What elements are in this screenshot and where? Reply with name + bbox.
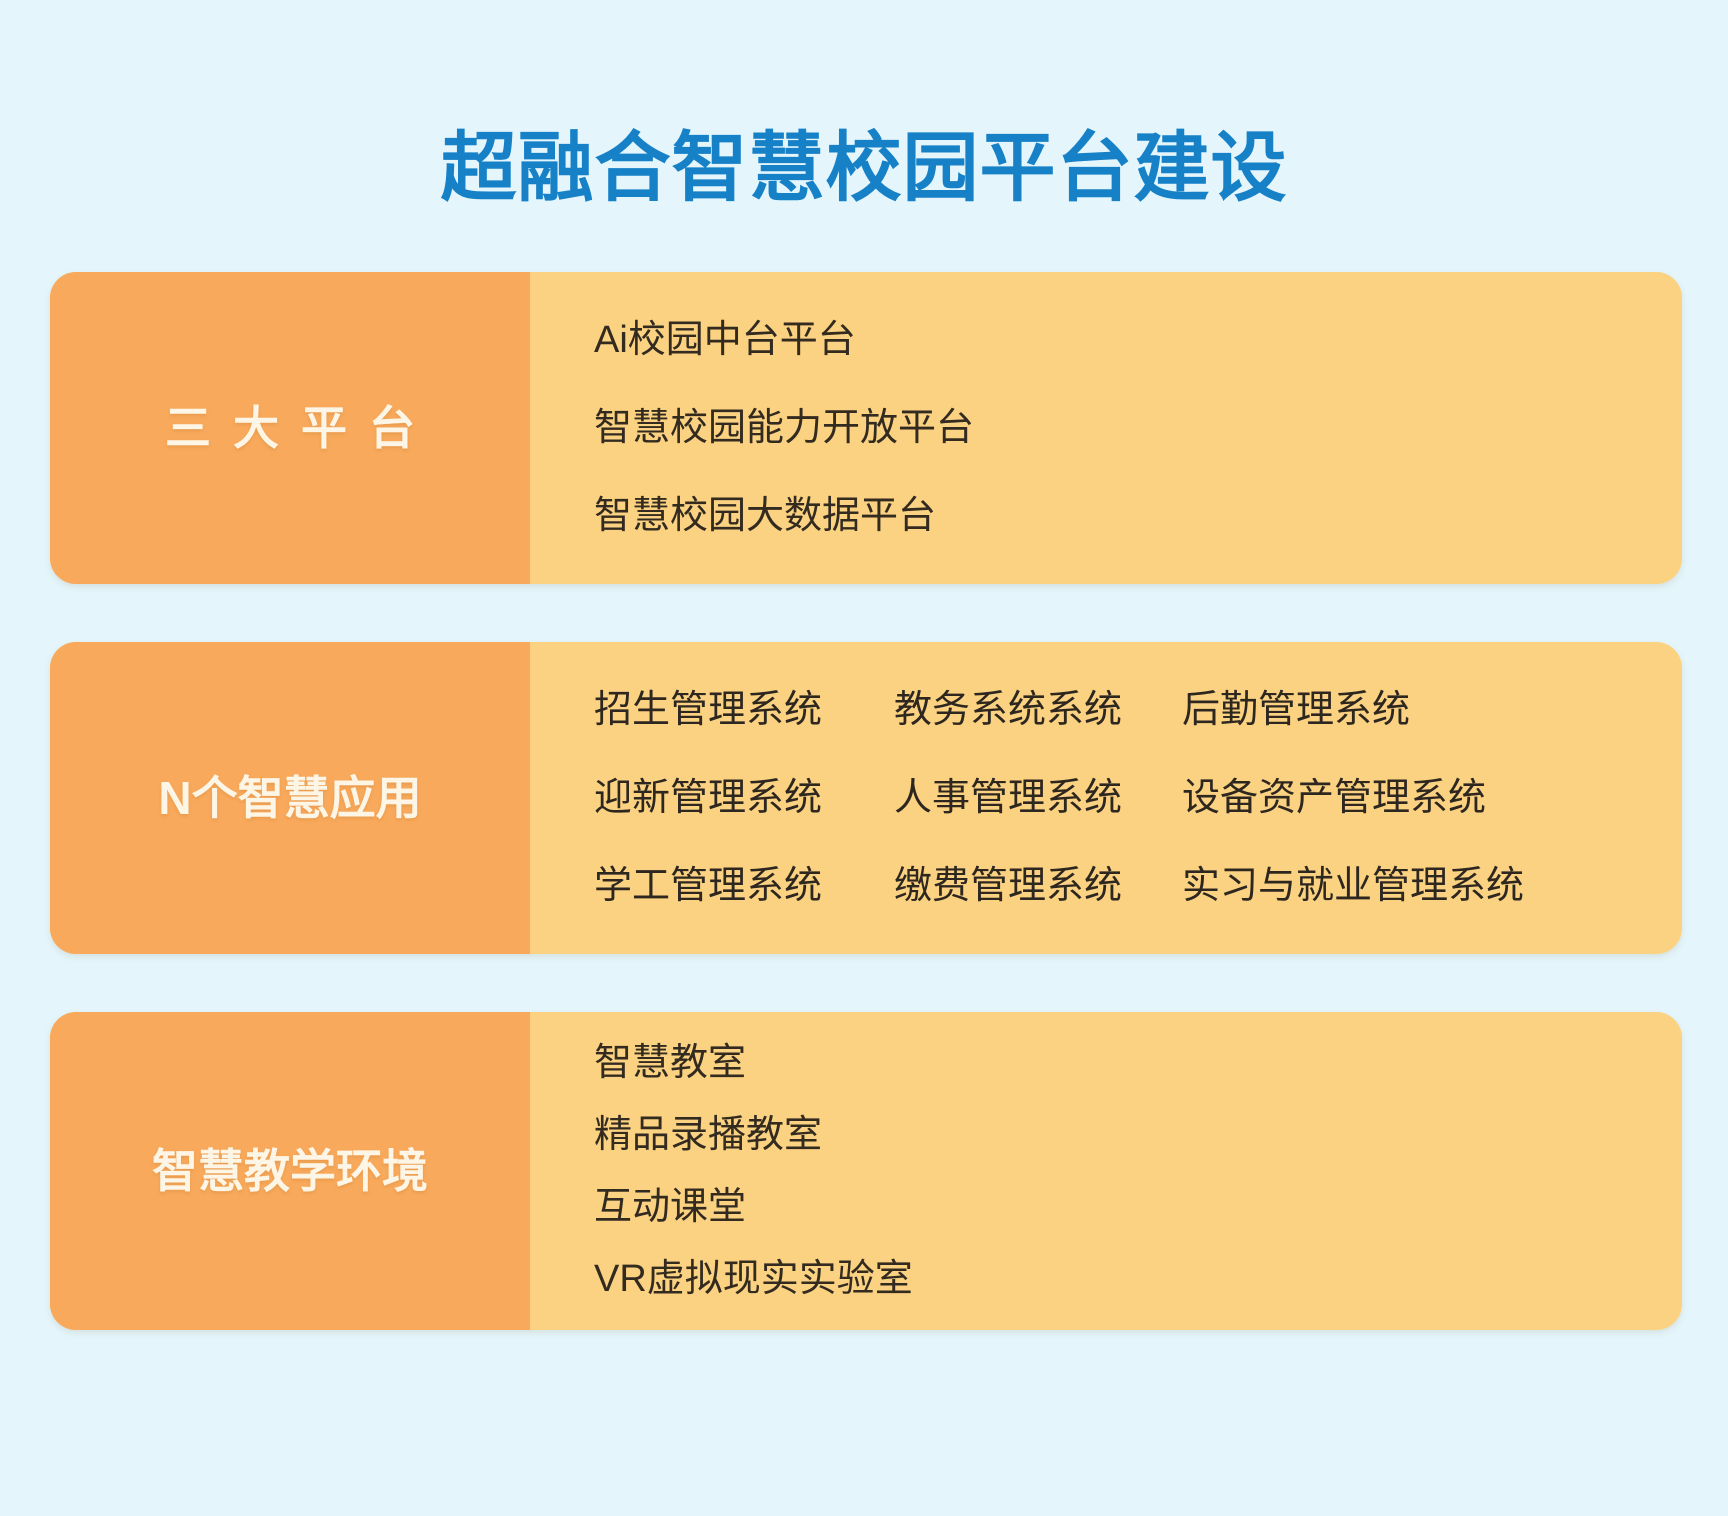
section-card-applications: N个智慧应用 招生管理系统 教务系统系统 后勤管理系统 迎新管理系统 人事管理系… <box>50 642 1682 954</box>
section-label-teaching-environment: 智慧教学环境 <box>50 1012 530 1330</box>
list-item: 互动课堂 <box>594 1184 1682 1230</box>
list-item: 智慧教室 <box>594 1040 1682 1086</box>
poster-root: 超融合智慧校园平台建设 三大平台 Ai校园中台平台 智慧校园能力开放平台 智慧校… <box>0 0 1728 1516</box>
section-card-platforms: 三大平台 Ai校园中台平台 智慧校园能力开放平台 智慧校园大数据平台 <box>50 272 1682 584</box>
section-label-text: 三大平台 <box>143 399 437 457</box>
section-body-teaching-environment: 智慧教室 精品录播教室 互动课堂 VR虚拟现实实验室 <box>530 1012 1682 1330</box>
list-item: 人事管理系统 <box>894 775 1182 821</box>
list-item: 学工管理系统 <box>594 863 894 909</box>
page-title-wrap: 超融合智慧校园平台建设 <box>0 72 1728 266</box>
page-title: 超融合智慧校园平台建设 <box>441 123 1288 215</box>
list-item: 教务系统系统 <box>894 687 1182 733</box>
section-label-text: N个智慧应用 <box>158 769 421 827</box>
list-item: 智慧校园能力开放平台 <box>594 406 1682 450</box>
section-label-applications: N个智慧应用 <box>50 642 530 954</box>
list-item: 精品录播教室 <box>594 1112 1682 1158</box>
application-row: 迎新管理系统 人事管理系统 设备资产管理系统 <box>594 775 1682 821</box>
list-item: Ai校园中台平台 <box>594 318 1682 362</box>
list-item: 后勤管理系统 <box>1182 687 1410 733</box>
section-label-platforms: 三大平台 <box>50 272 530 584</box>
list-item: 实习与就业管理系统 <box>1182 863 1524 909</box>
list-item: 设备资产管理系统 <box>1182 775 1486 821</box>
list-item: 智慧校园大数据平台 <box>594 494 1682 538</box>
section-label-text: 智慧教学环境 <box>152 1142 428 1200</box>
section-body-platforms: Ai校园中台平台 智慧校园能力开放平台 智慧校园大数据平台 <box>530 272 1682 584</box>
section-card-teaching-environment: 智慧教学环境 智慧教室 精品录播教室 互动课堂 VR虚拟现实实验室 <box>50 1012 1682 1330</box>
list-item: VR虚拟现实实验室 <box>594 1256 1682 1302</box>
section-body-applications: 招生管理系统 教务系统系统 后勤管理系统 迎新管理系统 人事管理系统 设备资产管… <box>530 642 1682 954</box>
list-item: 招生管理系统 <box>594 687 894 733</box>
list-item: 缴费管理系统 <box>894 863 1182 909</box>
application-row: 学工管理系统 缴费管理系统 实习与就业管理系统 <box>594 863 1682 909</box>
application-row: 招生管理系统 教务系统系统 后勤管理系统 <box>594 687 1682 733</box>
section-card-list: 三大平台 Ai校园中台平台 智慧校园能力开放平台 智慧校园大数据平台 N个智慧应… <box>50 272 1682 1388</box>
list-item: 迎新管理系统 <box>594 775 894 821</box>
